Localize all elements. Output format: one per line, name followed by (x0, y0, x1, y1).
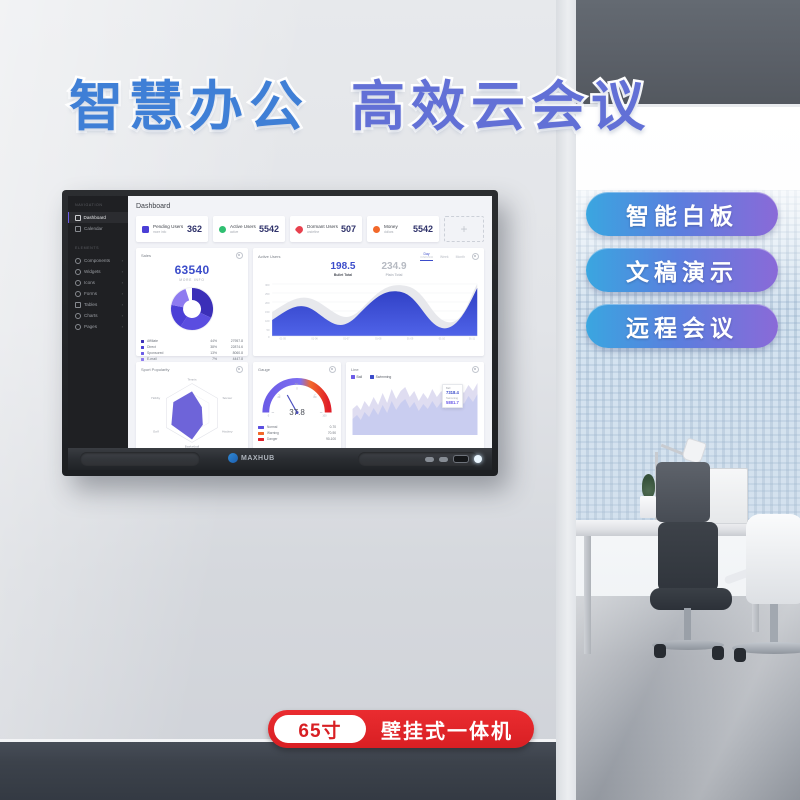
legend-percent: 7% (201, 357, 217, 361)
coin-icon (373, 226, 380, 233)
stat-text: Dormant Users undefine (307, 224, 341, 234)
dark-chair-mesh (658, 522, 718, 592)
tab-week[interactable]: Week (440, 255, 449, 259)
legend-amount: 8060.8 (217, 351, 243, 355)
sidebar-item-label: Dashboard (84, 215, 124, 220)
svg-text:01-06: 01-06 (311, 336, 318, 340)
gear-icon[interactable] (472, 366, 479, 373)
chevron-right-icon: › (122, 324, 123, 329)
svg-text:Soccer: Soccer (222, 396, 232, 400)
legend-swatch (258, 432, 264, 435)
gauge-value: 37.8 (253, 408, 341, 417)
legend-name: Normal (267, 425, 330, 429)
widget-icon (75, 269, 81, 275)
card-title: Sport Popularity (141, 367, 169, 372)
active-metrics: 198.5 Bullet Total 234.9 Plain Total (258, 262, 479, 277)
leaf-icon (219, 226, 226, 233)
legend-range: 90-100 (326, 437, 336, 441)
sport-popularity-card: Sport Popularity (136, 362, 248, 448)
card-header: Gauge (258, 366, 336, 373)
active-users-area-chart: 300 250 200 150 100 50 0 (258, 278, 479, 340)
tab-label: Month (456, 255, 465, 259)
sidebar-item-label: Calendar (84, 226, 123, 231)
stat-card-dormant-users[interactable]: Dormant Users undefine 507 (290, 216, 362, 242)
card-title: Active Users (258, 254, 280, 259)
desk-leg (584, 536, 591, 654)
sales-total: 63540 (141, 263, 243, 277)
metric-value: 198.5 (330, 262, 355, 272)
stat-value: 362 (187, 224, 202, 234)
svg-text:01-07: 01-07 (343, 336, 350, 340)
dashboard-app: NAVIGATION Dashboard Calendar ELEMENTS C… (68, 196, 492, 448)
chevron-right-icon: › (122, 302, 123, 307)
svg-text:01-11: 01-11 (469, 336, 476, 340)
feature-pill-label: 远程会议 (626, 309, 738, 343)
sidebar-item-label: Widgets (84, 269, 119, 274)
sidebar-section-elements: ELEMENTS (68, 246, 128, 255)
power-button[interactable] (453, 455, 469, 463)
left-floor (0, 742, 561, 800)
svg-text:Tennis: Tennis (187, 378, 196, 382)
gear-icon[interactable] (236, 366, 243, 373)
legend-percent: 38% (201, 345, 217, 349)
chevron-right-icon: › (122, 313, 123, 318)
heart-icon (295, 224, 305, 234)
sidebar-item-label: Charts (84, 313, 119, 318)
feature-pill-label: 智能白板 (626, 197, 738, 231)
sidebar-item-charts[interactable]: Charts › (68, 310, 128, 321)
stat-text: Active Users active (230, 224, 259, 234)
gear-icon[interactable] (329, 366, 336, 373)
stat-sub: undefine (307, 230, 341, 234)
plant-leaves (642, 474, 655, 498)
stat-card-row: Pending Users more info 362 Active Users… (136, 216, 484, 242)
plant-pot (640, 496, 656, 518)
card-title: Gauge (258, 367, 270, 372)
legend-name: E-mail (147, 357, 201, 361)
stat-card-pending-users[interactable]: Pending Users more info 362 (136, 216, 208, 242)
dashboard-heading: Dashboard (136, 203, 484, 210)
dark-chair-post (684, 608, 691, 644)
chair-caster (712, 646, 724, 660)
stat-name: Dormant Users (307, 224, 341, 230)
star-icon (75, 280, 81, 286)
stat-value: 507 (341, 224, 356, 234)
tab-label: Week (440, 255, 449, 259)
svg-text:Golf: Golf (153, 430, 159, 434)
stat-sub: active (230, 230, 259, 234)
legend-amount: 27957.8 (217, 339, 243, 343)
page-icon (75, 324, 81, 330)
stat-sub: dollars (384, 230, 413, 234)
chart-row-2: Sport Popularity (136, 362, 484, 448)
banner-text: 壁挂式一体机 (366, 715, 534, 744)
status-led-icon (474, 455, 482, 463)
card-header: Sport Popularity (141, 366, 243, 373)
stat-card-active-users[interactable]: Active Users active 5542 (213, 216, 285, 242)
card-header: Line (351, 366, 479, 373)
sidebar-item-label: Forms (84, 291, 119, 296)
svg-text:50: 50 (267, 328, 270, 332)
stat-card-money[interactable]: Money dollars 5542 (367, 216, 439, 242)
legend-amount: 22874.6 (217, 345, 243, 349)
legend-swatch (141, 346, 144, 349)
card-title: Line (351, 367, 359, 372)
feature-pill-presentation[interactable]: 文稿演示 (586, 248, 778, 292)
legend-swatch (258, 438, 264, 441)
svg-text:01-05: 01-05 (280, 336, 287, 340)
sales-legend: Affiliate 44% 27957.8 Direct 38% 22874.6 (141, 338, 243, 362)
sidebar-item-label: Icons (84, 280, 119, 285)
page-title: 智慧办公 高效云会议 (0, 62, 720, 141)
gauge-card: Gauge (253, 362, 341, 448)
legend-swatch (258, 426, 264, 429)
legend-percent: 44% (201, 339, 217, 343)
bookmark-icon (142, 226, 149, 233)
sidebar-item-icons[interactable]: Icons › (68, 277, 128, 288)
legend-name: Affiliate (147, 339, 201, 343)
legend-percent: 13% (201, 351, 217, 355)
product-banner: 65寸 壁挂式一体机 (268, 710, 534, 748)
sidebar-item-label: Components (84, 258, 119, 263)
sidebar-item-dashboard[interactable]: Dashboard (68, 212, 128, 223)
headline-segment-2: 高效云会议 (351, 77, 651, 137)
legend-amount: 4447.8 (217, 357, 243, 361)
legend-swatch (141, 352, 144, 355)
legend-row: Danger 90-100 (258, 436, 336, 442)
card-header: Active Users DayOVERVIEW Week Month (258, 252, 479, 261)
feature-pill-list: 智能白板 文稿演示 远程会议 (586, 192, 786, 360)
gear-icon[interactable] (236, 252, 243, 259)
chair-caster (734, 648, 746, 662)
range-tabs: DayOVERVIEW Week Month (420, 252, 465, 261)
stat-name: Active Users (230, 224, 259, 230)
metric-bullet-total: 198.5 Bullet Total (330, 262, 355, 277)
chair-caster (654, 644, 666, 658)
add-card-button[interactable]: + (444, 216, 484, 242)
tooltip-value: 7318.4 (446, 390, 459, 395)
size-badge: 65寸 (274, 715, 366, 743)
legend-range: 0-70 (330, 425, 336, 429)
display-bottom-bezel: MAXHUB (68, 448, 492, 470)
chart-row-1: Sales 63540 MORE INFO (136, 248, 484, 356)
svg-text:Hobby: Hobby (151, 396, 160, 400)
sidebar-item-tables[interactable]: Tables › (68, 299, 128, 310)
volume-down-button[interactable] (425, 457, 434, 462)
chevron-right-icon: › (122, 291, 123, 296)
home-icon (75, 215, 81, 221)
card-header-right: DayOVERVIEW Week Month (420, 252, 479, 261)
metric-label: Bullet Total (330, 273, 355, 277)
dark-chair-back (656, 462, 710, 522)
floor-reflection (556, 596, 800, 800)
legend-swatch (141, 340, 144, 343)
line-card: Line Ball Swimming (346, 362, 484, 448)
chart-icon (75, 313, 81, 319)
tab-month[interactable]: Month (456, 255, 465, 259)
legend-name: Direct (147, 345, 201, 349)
stat-value: 5542 (259, 224, 279, 234)
speaker-grille-left (80, 452, 200, 466)
sidebar-item-calendar[interactable]: Calendar (68, 223, 128, 234)
svg-text:200: 200 (265, 301, 270, 305)
svg-text:300: 300 (265, 283, 270, 287)
svg-text:01-09: 01-09 (407, 336, 414, 340)
metric-label: Plain Total (382, 273, 407, 277)
white-chair-back (746, 514, 800, 604)
headline-segment-1: 智慧办公 (69, 77, 309, 137)
feature-pill-remote-meeting[interactable]: 远程会议 (586, 304, 778, 348)
chevron-right-icon: › (122, 269, 123, 274)
svg-text:20: 20 (278, 396, 281, 399)
card-title: Sales (141, 253, 151, 258)
size-badge-label: 65寸 (298, 716, 341, 743)
brand-logo: MAXHUB (228, 453, 275, 463)
svg-text:Hockey: Hockey (222, 430, 233, 434)
display-screen[interactable]: NAVIGATION Dashboard Calendar ELEMENTS C… (68, 196, 492, 448)
stat-value: 5542 (413, 224, 433, 234)
sidebar-item-pages[interactable]: Pages › (68, 321, 128, 332)
stat-text: Money dollars (384, 224, 413, 234)
brand-name: MAXHUB (241, 455, 275, 462)
legend-name: Warning (267, 431, 328, 435)
sidebar-item-widgets[interactable]: Widgets › (68, 266, 128, 277)
svg-text:100: 100 (265, 319, 270, 323)
stat-sub: more info (153, 230, 187, 234)
tooltip-value: 5881.7 (446, 400, 459, 405)
gear-icon[interactable] (472, 253, 479, 260)
radar-chart: Tennis Soccer Hockey Basketball Golf Hob… (141, 373, 243, 448)
feature-pill-label: 文稿演示 (626, 253, 738, 287)
feature-pill-whiteboard[interactable]: 智能白板 (586, 192, 778, 236)
dark-chair-seat (650, 588, 732, 610)
svg-text:150: 150 (265, 310, 270, 314)
donut-chart (141, 285, 243, 333)
sidebar: NAVIGATION Dashboard Calendar ELEMENTS C… (68, 196, 128, 448)
chevron-right-icon: › (122, 280, 123, 285)
sales-card: Sales 63540 MORE INFO (136, 248, 248, 356)
calendar-icon (75, 226, 81, 232)
svg-text:0: 0 (268, 335, 270, 339)
volume-up-button[interactable] (439, 457, 448, 462)
sidebar-item-label: Pages (84, 324, 119, 329)
card-header: Sales (141, 252, 243, 259)
poster-scene: 智慧办公 高效云会议 智能白板 文稿演示 远程会议 65寸 壁挂式一体机 NAV… (0, 0, 800, 800)
legend-swatch (141, 358, 144, 361)
gauge-legend: Normal 0-70 Warning 70-90 (258, 424, 336, 442)
svg-text:01-10: 01-10 (439, 336, 446, 340)
svg-text:250: 250 (265, 292, 270, 296)
wall-mounted-display: NAVIGATION Dashboard Calendar ELEMENTS C… (62, 190, 498, 476)
tab-day[interactable]: DayOVERVIEW (420, 252, 433, 261)
legend-name: Danger (267, 437, 326, 441)
sidebar-item-label: Tables (84, 302, 119, 307)
stat-name: Pending Users (153, 224, 187, 230)
sidebar-item-components[interactable]: Components › (68, 255, 128, 266)
table-icon (75, 302, 81, 308)
tab-sublabel: OVERVIEW (420, 256, 433, 259)
form-icon (75, 291, 81, 297)
grid-icon (75, 258, 81, 264)
metric-plain-total: 234.9 Plain Total (382, 262, 407, 277)
stat-text: Pending Users more info (153, 224, 187, 234)
legend-range: 70-90 (328, 431, 336, 435)
sidebar-section-main: NAVIGATION (68, 203, 128, 212)
svg-text:01-08: 01-08 (375, 336, 382, 340)
logo-mark-icon (228, 453, 238, 463)
metric-value: 234.9 (382, 262, 407, 272)
sidebar-spacer (68, 234, 128, 246)
chart-tooltip: Ball 7318.4 Swimming 5881.7 (442, 384, 463, 408)
dashboard-main: Dashboard Pending Users more info 362 (128, 196, 492, 448)
chevron-right-icon: › (122, 258, 123, 263)
sales-subtitle: MORE INFO (141, 278, 243, 282)
active-users-card: Active Users DayOVERVIEW Week Month (253, 248, 484, 356)
legend-name: Sponsored (147, 351, 201, 355)
sidebar-item-forms[interactable]: Forms › (68, 288, 128, 299)
device-controls (425, 455, 482, 463)
